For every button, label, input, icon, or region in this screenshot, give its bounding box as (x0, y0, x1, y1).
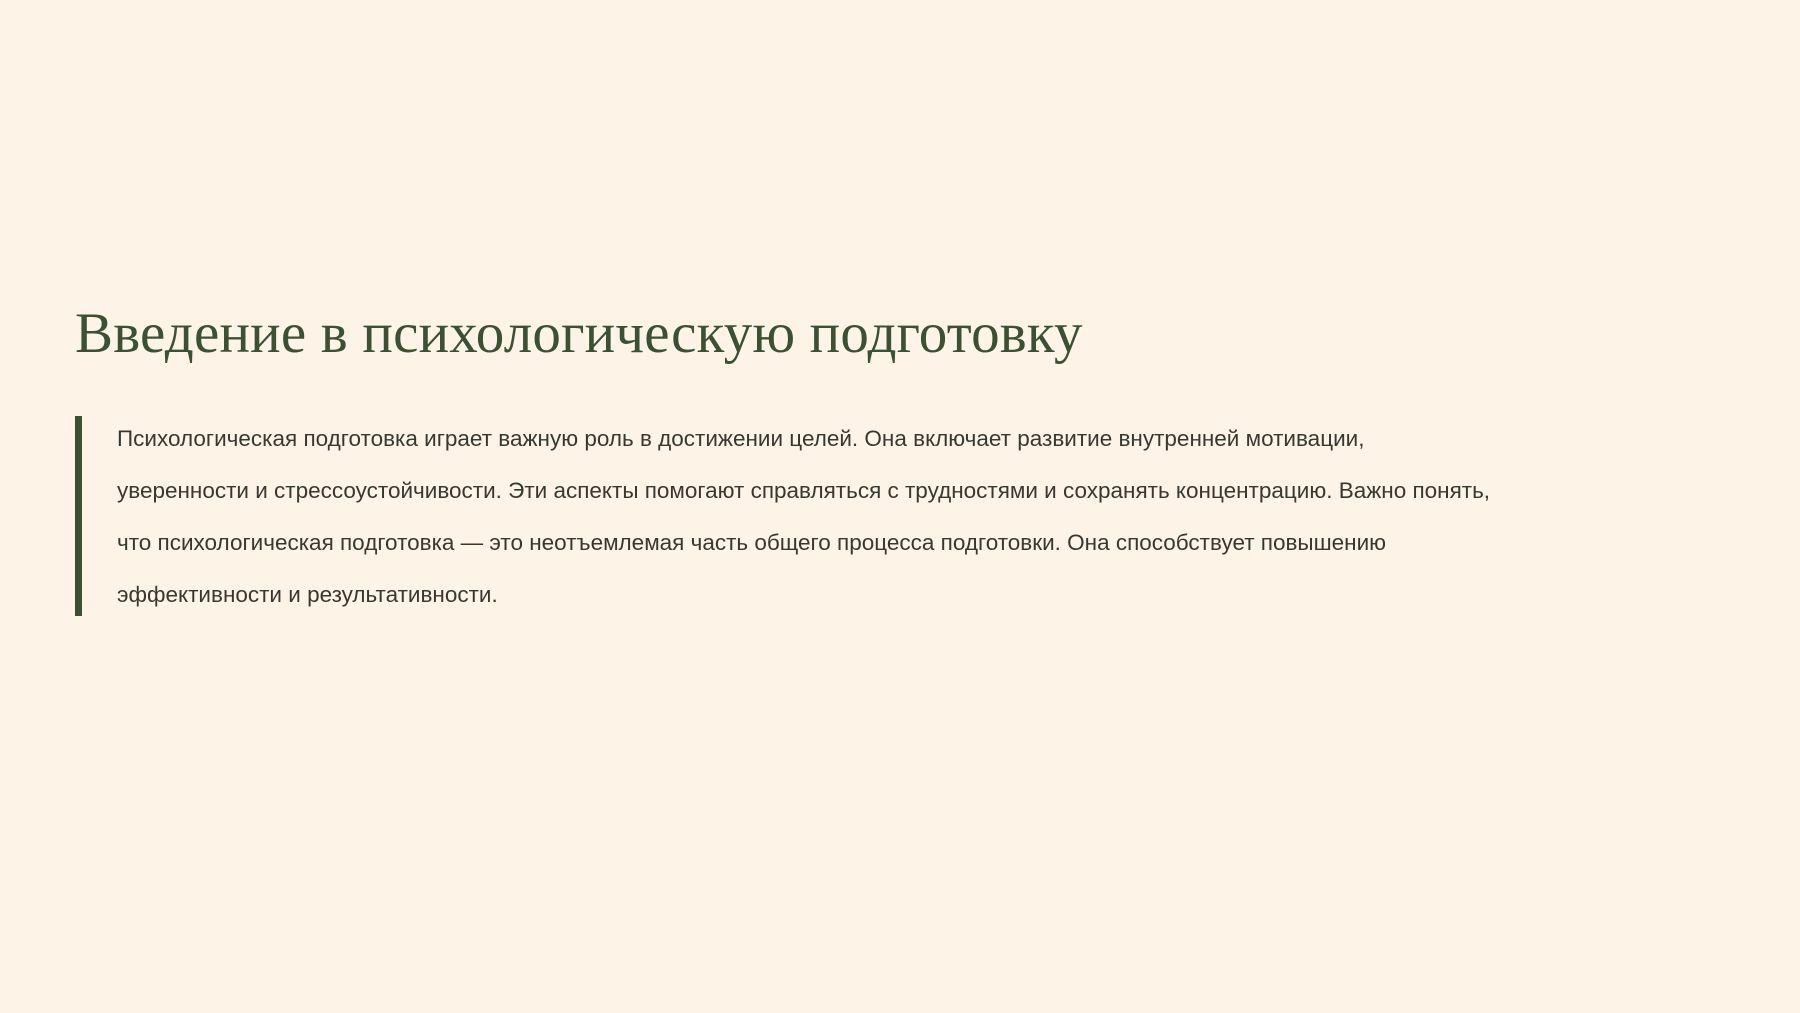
body-callout: Психологическая подготовка играет важную… (75, 413, 1725, 621)
slide-canvas: Введение в психологическую подготовку Пс… (0, 0, 1800, 1013)
body-paragraph: Психологическая подготовка играет важную… (117, 413, 1497, 621)
accent-bar (75, 416, 82, 616)
page-title: Введение в психологическую подготовку (75, 300, 1725, 367)
slide-content: Введение в психологическую подготовку Пс… (75, 300, 1725, 621)
